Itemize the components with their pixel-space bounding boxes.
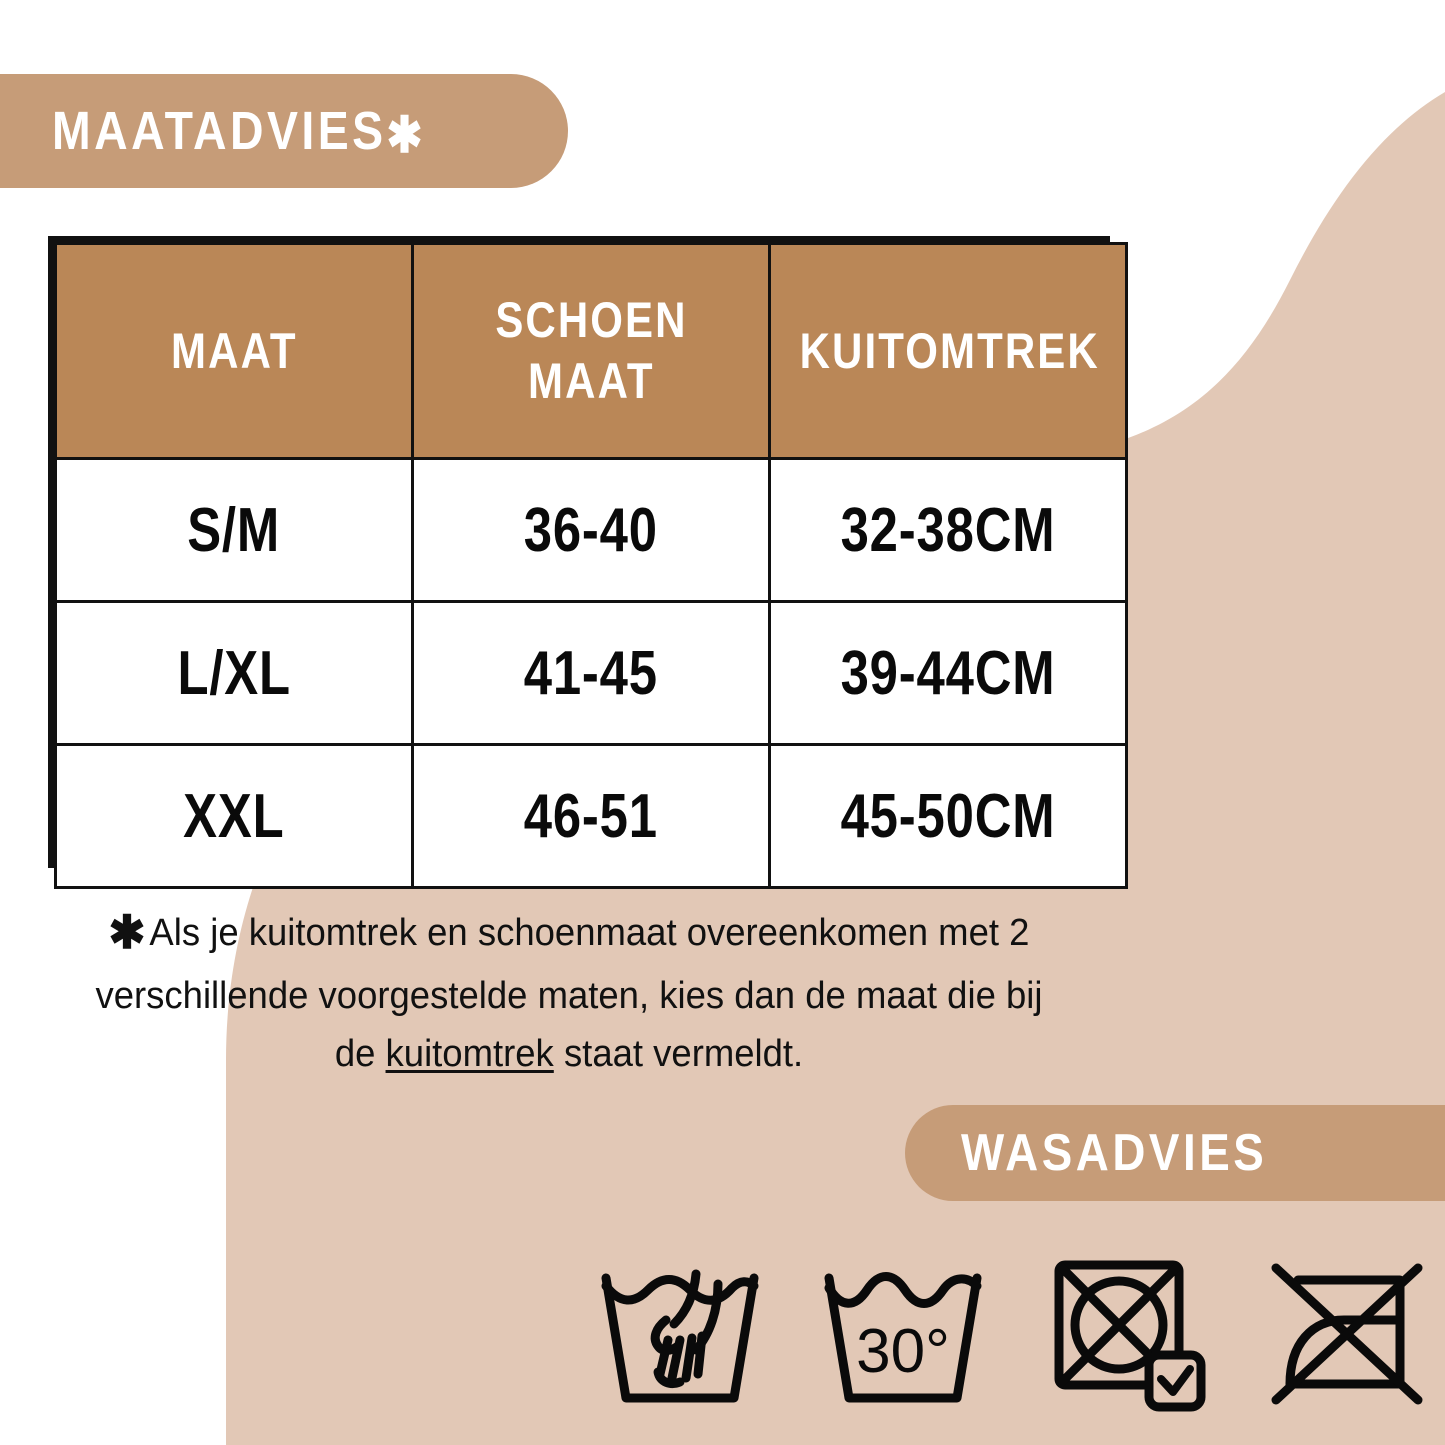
- table-row: XXL 46-51 45-50CM: [56, 745, 1127, 888]
- wasadvies-banner: WASADVIES: [905, 1105, 1445, 1201]
- asterisk-icon: ✱: [387, 110, 426, 160]
- svg-text:30°: 30°: [856, 1317, 950, 1386]
- wash-30-degrees-icon: 30°: [808, 1251, 998, 1421]
- table-row: L/XL 41-45 39-44CM: [56, 602, 1127, 745]
- cell-kuitomtrek: 32-38CM: [770, 459, 1127, 602]
- maatadvies-banner: MAATADVIES✱: [0, 74, 568, 188]
- care-symbols-row: 30°: [585, 1248, 1445, 1423]
- do-not-tumble-dry-icon: [1032, 1251, 1222, 1421]
- table-header-row: MAAT SCHOEN MAAT KUITOMTREK: [56, 244, 1127, 459]
- size-chart-table: MAAT SCHOEN MAAT KUITOMTREK S/M 36-40 32…: [48, 236, 1110, 868]
- footnote-emphasis: kuitomtrek: [386, 1033, 554, 1075]
- cell-kuitomtrek: 45-50CM: [770, 745, 1127, 888]
- maatadvies-title: MAATADVIES✱: [52, 100, 426, 162]
- column-header-kuitomtrek: KUITOMTREK: [770, 244, 1127, 459]
- cell-schoenmaat: 46-51: [413, 745, 770, 888]
- column-header-maat: MAAT: [56, 244, 413, 459]
- do-not-dry-clean-icon: [1255, 1251, 1445, 1421]
- cell-schoenmaat: 36-40: [413, 459, 770, 602]
- cell-maat: S/M: [56, 459, 413, 602]
- cell-maat: XXL: [56, 745, 413, 888]
- column-header-schoenmaat: SCHOEN MAAT: [413, 244, 770, 459]
- asterisk-icon: ✱: [109, 906, 146, 958]
- table-row: S/M 36-40 32-38CM: [56, 459, 1127, 602]
- footnote-text: ✱Als je kuitomtrek en schoenmaat overeen…: [64, 898, 1074, 1083]
- cell-maat: L/XL: [56, 602, 413, 745]
- cell-schoenmaat: 41-45: [413, 602, 770, 745]
- cell-kuitomtrek: 39-44CM: [770, 602, 1127, 745]
- footnote-part-two: staat vermeldt.: [554, 1033, 803, 1075]
- hand-wash-icon: [585, 1251, 775, 1421]
- wasadvies-title: WASADVIES: [961, 1123, 1267, 1183]
- size-guide-page: MAATADVIES✱ MAAT SCHOEN MAAT KUITOMTREK: [0, 0, 1445, 1445]
